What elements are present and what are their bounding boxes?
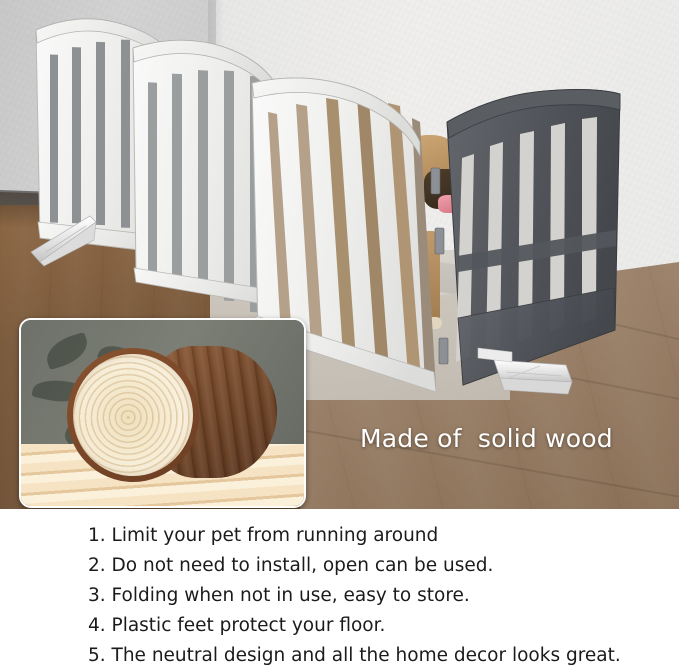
- feature-item-4: 4. Plastic feet protect your floor.: [88, 611, 679, 641]
- feature-list: 1. Limit your pet from running around 2.…: [0, 509, 679, 669]
- feature-item-1: 1. Limit your pet from running around: [88, 521, 679, 551]
- log-growth-rings: [73, 354, 193, 476]
- hinge-icon: [439, 338, 448, 364]
- feature-item-3: 3. Folding when not in use, easy to stor…: [88, 581, 679, 611]
- hinge-icon: [435, 228, 444, 254]
- solid-wood-log-photo: [19, 318, 306, 508]
- feature-item-5: 5. The neutral design and all the home d…: [88, 641, 679, 671]
- hinge-icon: [431, 168, 440, 194]
- gate-hinge-group: [431, 168, 448, 364]
- made-of-solid-wood-caption: Made of solid wood: [360, 424, 613, 453]
- gate-panel-4-gray: [447, 90, 620, 385]
- feature-item-2: 2. Do not need to install, open can be u…: [88, 551, 679, 581]
- product-photo: Made of solid wood: [0, 0, 679, 509]
- cut-log: [61, 344, 276, 484]
- plastic-foot-right: [494, 360, 572, 394]
